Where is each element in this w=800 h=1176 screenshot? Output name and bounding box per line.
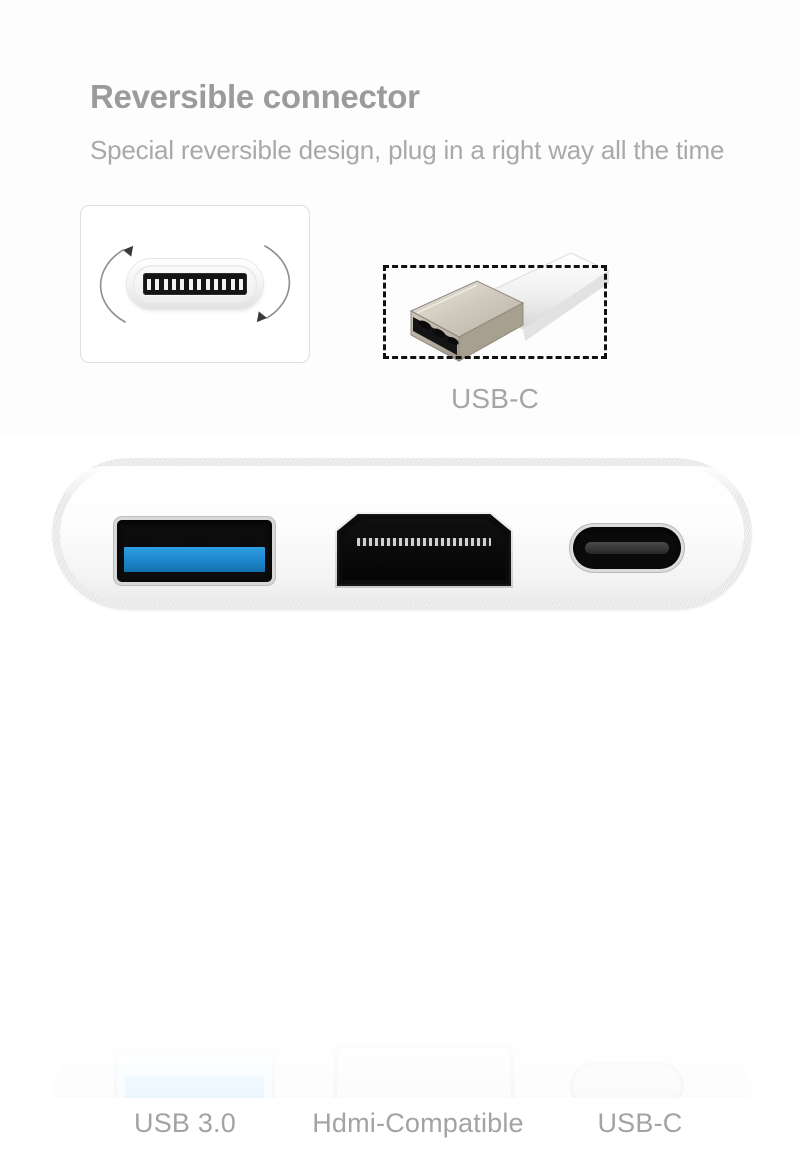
usb-c-highlight-box [383, 265, 607, 359]
page-title: Reversible connector [90, 78, 420, 116]
usb-c-plug-figure [383, 265, 607, 359]
usb-a-port-icon [117, 520, 272, 582]
usb-c-plug-caption: USB-C [383, 383, 607, 415]
device-reflection [52, 1024, 752, 1098]
product-feature-graphic: Reversible connector Special reversible … [0, 0, 800, 800]
hub-ports [52, 458, 752, 628]
port-label-usb-a: USB 3.0 [80, 1108, 290, 1139]
hdmi-pin-strip [357, 538, 491, 546]
feature-description: Special reversible design, plug in a rig… [90, 134, 760, 167]
usb-c-pin-strip [143, 273, 247, 295]
hdmi-port-cavity [343, 519, 505, 580]
usb-a-blue-tongue [124, 547, 265, 572]
usb-c-port-icon [573, 527, 681, 569]
usb-c-tongue [585, 542, 669, 554]
device-panel: USB 3.0 Hdmi-Compatible USB-C [0, 436, 800, 800]
port-label-usb-c: USB-C [555, 1108, 725, 1139]
reversible-diagram [80, 205, 310, 363]
usb-c-hub-device [52, 458, 752, 628]
port-label-hdmi: Hdmi-Compatible [283, 1108, 553, 1139]
feature-panel: Reversible connector Special reversible … [0, 0, 800, 436]
usb-c-port-face-icon [127, 259, 263, 309]
port-labels: USB 3.0 Hdmi-Compatible USB-C [0, 1108, 800, 1152]
